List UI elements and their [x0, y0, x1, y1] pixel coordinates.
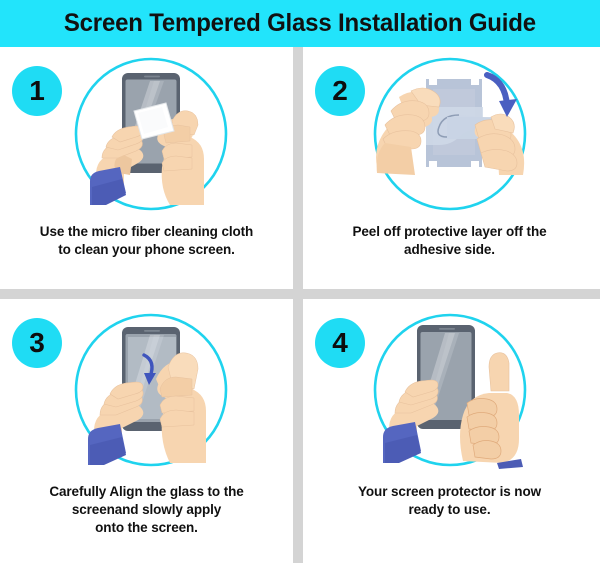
- step-number-label: 1: [29, 77, 45, 105]
- caption-line: to clean your phone screen.: [8, 241, 285, 259]
- step-number-label: 4: [332, 329, 348, 357]
- page-title: Screen Tempered Glass Installation Guide: [64, 9, 536, 38]
- step-caption-4: Your screen protector is now ready to us…: [311, 483, 588, 519]
- step-number-label: 3: [29, 329, 45, 357]
- caption-line: Use the micro fiber cleaning cloth: [8, 223, 285, 241]
- caption-line: Carefully Align the glass to the: [8, 483, 285, 501]
- step-panel-2: 2: [303, 47, 596, 289]
- illustration-step-3: [72, 311, 230, 469]
- steps-grid: 1: [0, 47, 600, 563]
- caption-line: Your screen protector is now: [311, 483, 588, 501]
- caption-line: screenand slowly apply: [8, 501, 285, 519]
- step-caption-1: Use the micro fiber cleaning cloth to cl…: [8, 223, 285, 259]
- step-panel-4: 4: [303, 299, 596, 563]
- step-panel-3: 3: [0, 299, 293, 563]
- step-badge-4: 4: [315, 318, 365, 368]
- horizontal-divider: [0, 289, 600, 299]
- step-caption-2: Peel off protective layer off the adhesi…: [311, 223, 588, 259]
- caption-line: onto the screen.: [8, 519, 285, 537]
- step-panel-1: 1: [0, 47, 293, 289]
- header-bar: Screen Tempered Glass Installation Guide: [0, 0, 600, 47]
- illustration-step-1: [72, 55, 230, 213]
- step-caption-3: Carefully Align the glass to the screena…: [8, 483, 285, 537]
- step-badge-1: 1: [12, 66, 62, 116]
- vertical-divider: [293, 47, 303, 563]
- illustration-step-2: [371, 55, 529, 213]
- step-badge-2: 2: [315, 66, 365, 116]
- caption-line: adhesive side.: [311, 241, 588, 259]
- step-badge-3: 3: [12, 318, 62, 368]
- caption-line: ready to use.: [311, 501, 588, 519]
- step-number-label: 2: [332, 77, 348, 105]
- illustration-step-4: [371, 311, 529, 469]
- caption-line: Peel off protective layer off the: [311, 223, 588, 241]
